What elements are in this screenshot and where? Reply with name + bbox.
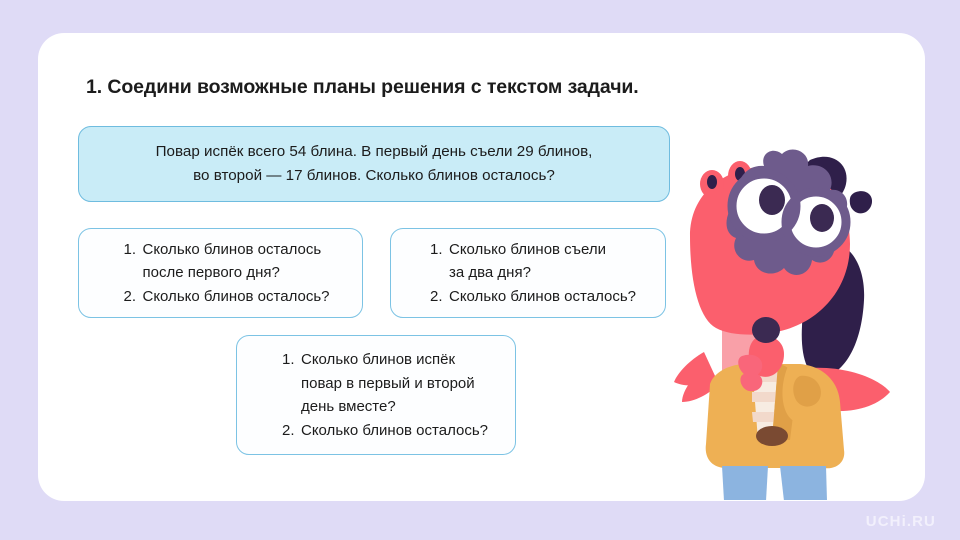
plan-line: 2. Сколько блинов осталось?	[123, 285, 329, 309]
plan-option-3-content: 1. Сколько блинов испёк повар в первый и…	[264, 348, 488, 442]
plan-line-number: 2.	[430, 285, 449, 309]
plan-line-number	[282, 372, 301, 396]
mascot-pupil-left	[759, 185, 785, 215]
problem-line-1: Повар испёк всего 54 блина. В первый ден…	[156, 140, 593, 164]
plan-line-text: за два дня?	[449, 261, 636, 285]
plan-line: 1. Сколько блинов съели	[430, 238, 636, 262]
problem-statement-box: Повар испёк всего 54 блина. В первый ден…	[78, 126, 670, 202]
mascot-legs	[704, 466, 834, 500]
dinosaur-mascot-illustration	[660, 140, 900, 500]
plan-line: 1. Сколько блинов испёк	[282, 348, 488, 372]
page-title: 1. Соедини возможные планы решения с тек…	[86, 76, 639, 99]
plan-line: день вместе?	[282, 395, 488, 419]
plan-line: за два дня?	[430, 261, 636, 285]
problem-line-2: во второй — 17 блинов. Сколько блинов ос…	[193, 164, 555, 188]
plan-line-number: 1.	[430, 238, 449, 262]
plan-line-number	[123, 261, 142, 285]
plan-line-text: Сколько блинов осталось?	[142, 285, 329, 309]
plan-line-text: повар в первый и второй	[301, 372, 488, 396]
plan-option-3[interactable]: 1. Сколько блинов испёк повар в первый и…	[236, 335, 516, 455]
plan-line-number: 2.	[282, 419, 301, 443]
mascot-thumb-dark	[752, 317, 780, 343]
mascot-pupil-right	[810, 204, 834, 232]
plan-line-text: Сколько блинов осталось?	[301, 419, 488, 443]
plan-line: 2. Сколько блинов осталось?	[430, 285, 636, 309]
plan-line-text: после первого дня?	[142, 261, 329, 285]
plan-line: 2. Сколько блинов осталось?	[282, 419, 488, 443]
plan-line-text: Сколько блинов осталось?	[449, 285, 636, 309]
plan-line: 1. Сколько блинов осталось	[123, 238, 329, 262]
plan-option-1-content: 1. Сколько блинов осталось после первого…	[111, 238, 329, 309]
plan-option-2[interactable]: 1. Сколько блинов съели за два дня? 2. С…	[390, 228, 666, 318]
plan-option-1[interactable]: 1. Сколько блинов осталось после первого…	[78, 228, 363, 318]
mascot-nostril-left	[707, 175, 717, 189]
plan-line-number: 1.	[282, 348, 301, 372]
plan-line-text: Сколько блинов съели	[449, 238, 636, 262]
plan-line-text: Сколько блинов осталось	[142, 238, 329, 262]
mascot-belt	[756, 426, 788, 446]
slide-root: 1. Соедини возможные планы решения с тек…	[0, 0, 960, 540]
plan-line-number	[282, 395, 301, 419]
mascot-jacket	[706, 364, 845, 468]
uchi-ru-watermark: UCHi.RU	[866, 513, 936, 530]
plan-line: повар в первый и второй	[282, 372, 488, 396]
plan-line-number: 2.	[123, 285, 142, 309]
plan-line-number	[430, 261, 449, 285]
plan-line: после первого дня?	[123, 261, 329, 285]
plan-line-number: 1.	[123, 238, 142, 262]
plan-line-text: Сколько блинов испёк	[301, 348, 488, 372]
plan-option-2-content: 1. Сколько блинов съели за два дня? 2. С…	[420, 238, 636, 309]
plan-line-text: день вместе?	[301, 395, 488, 419]
